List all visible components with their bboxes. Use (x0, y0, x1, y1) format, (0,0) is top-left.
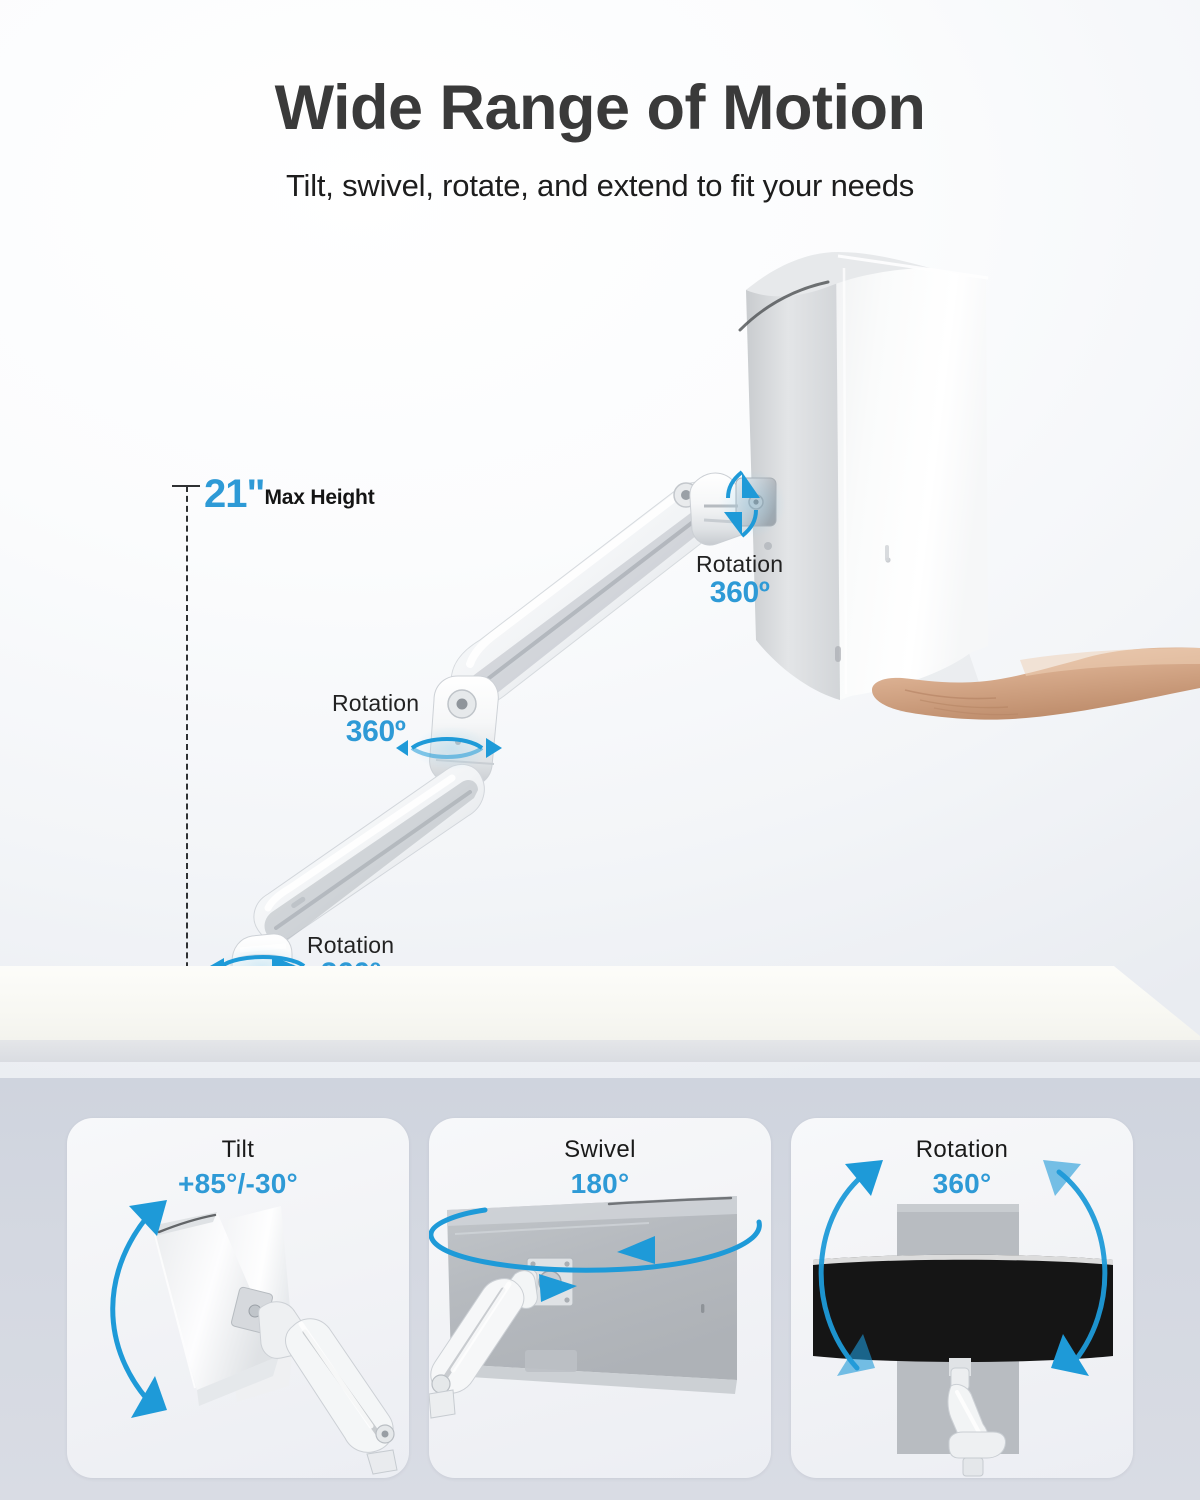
callout-rotation-head: Rotation 360º (696, 552, 783, 611)
max-height-guide-line (186, 486, 188, 998)
card-value: +85°/-30° (67, 1165, 409, 1203)
arm-lower-segment (254, 764, 484, 941)
feature-card-tilt[interactable]: Tilt +85°/-30° (67, 1118, 409, 1478)
callout-label: Rotation (332, 691, 419, 715)
max-height-value: 21" (204, 472, 264, 516)
desk-surface (0, 962, 1200, 1062)
card-title: Rotation (791, 1136, 1133, 1165)
card-title: Tilt (67, 1136, 409, 1165)
max-height-cap-top (172, 485, 200, 487)
card-heading: Swivel 180° (429, 1136, 771, 1203)
feature-card-rotation[interactable]: Rotation 360° (791, 1118, 1133, 1478)
card-heading: Tilt +85°/-30° (67, 1136, 409, 1203)
hero-section: Wide Range of Motion Tilt, swivel, rotat… (0, 0, 1200, 1078)
max-height-label: 21"Max Height (204, 472, 374, 517)
callout-value: 360º (332, 715, 419, 750)
card-value: 180° (429, 1165, 771, 1203)
feature-card-swivel[interactable]: Swivel 180° (429, 1118, 771, 1478)
callout-label: Rotation (696, 552, 783, 576)
rotation-arrow-head-icon (718, 470, 786, 538)
card-value: 360° (791, 1165, 1133, 1203)
card-title: Swivel (429, 1136, 771, 1165)
callout-value: 360º (696, 576, 783, 611)
card-heading: Rotation 360° (791, 1136, 1133, 1203)
monitor-arm-illustration (0, 0, 1200, 1078)
callout-label: Rotation (307, 933, 394, 957)
desk-front-edge (0, 1040, 1200, 1062)
max-height-caption: Max Height (264, 486, 374, 509)
feature-card-list: Tilt +85°/-30° (0, 1118, 1200, 1478)
features-section: Tilt +85°/-30° (0, 1078, 1200, 1500)
callout-rotation-elbow: Rotation 360º (332, 691, 419, 750)
